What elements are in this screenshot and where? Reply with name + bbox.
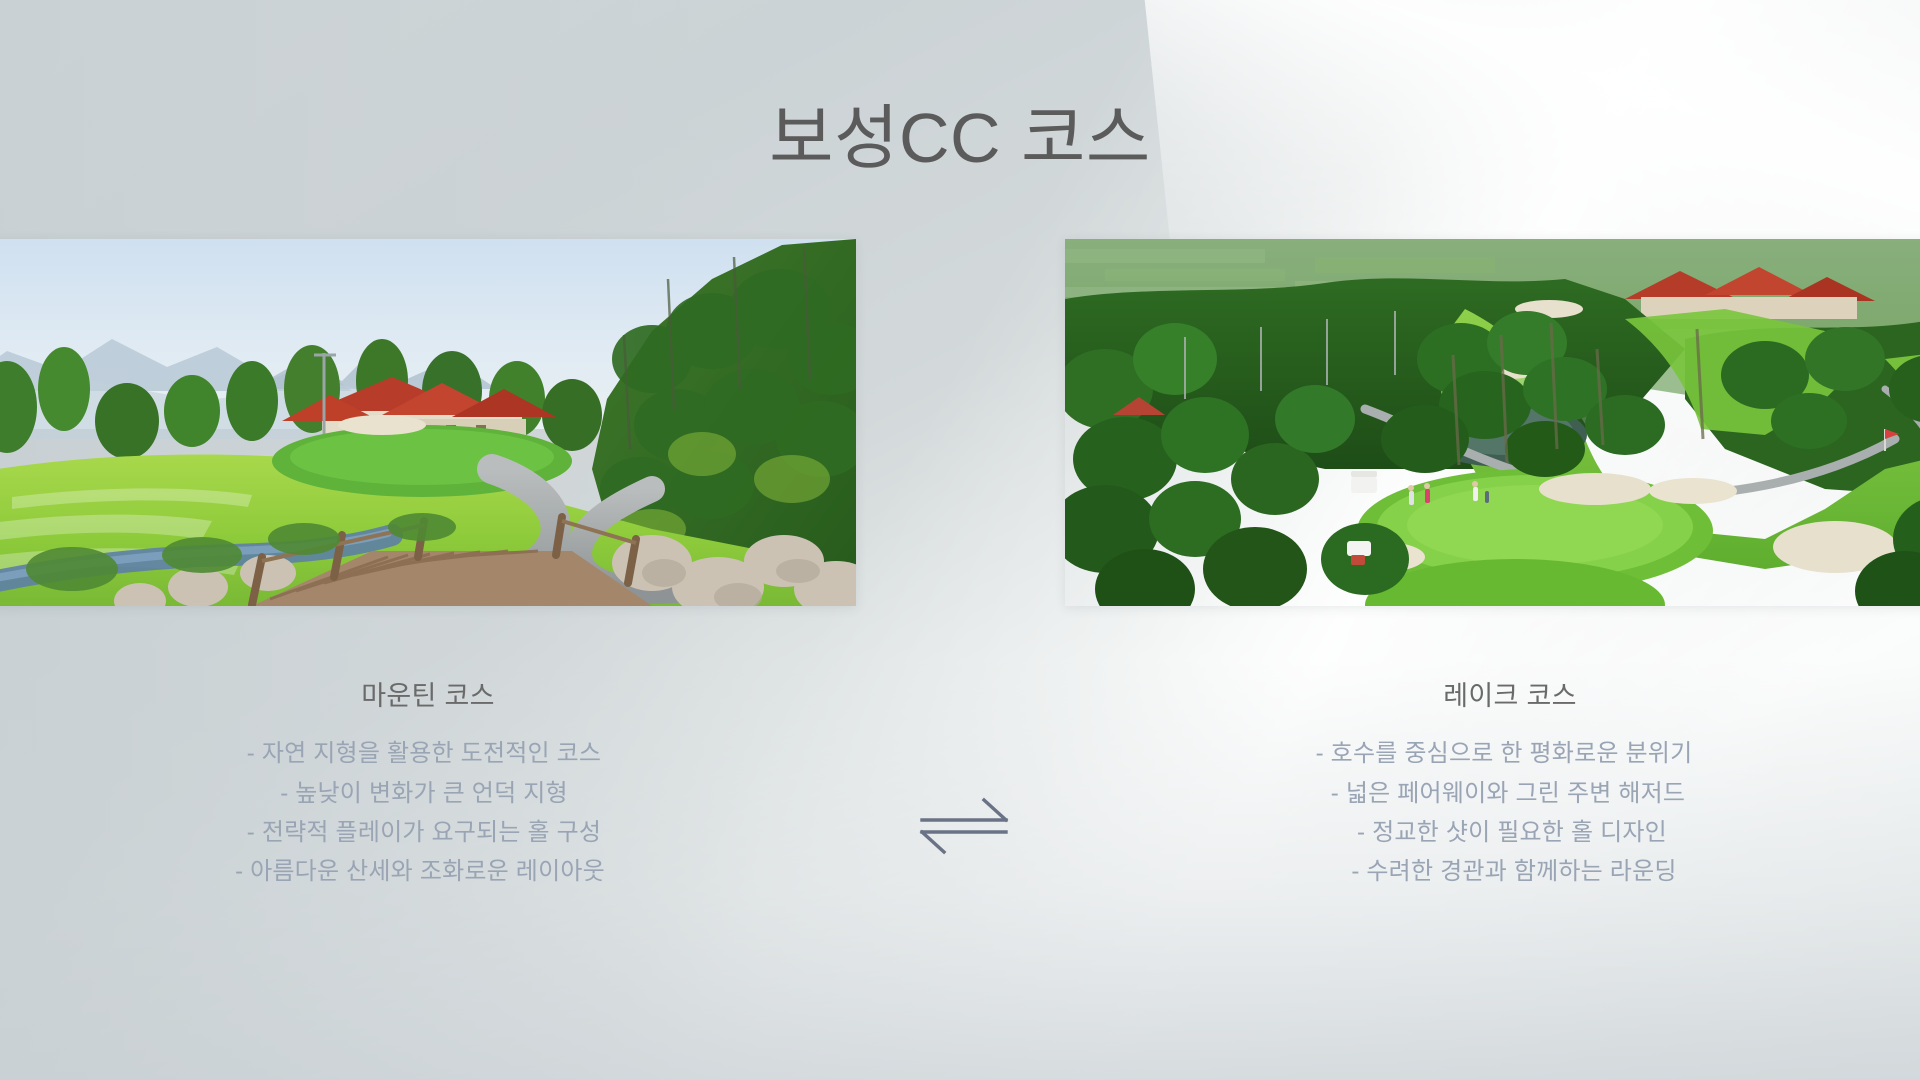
mountain-desc-line-4: - 아름다운 산세와 조화로운 레이아웃 xyxy=(50,852,790,891)
lake-course-title: 레이크 코스 xyxy=(1140,680,1880,712)
mountain-course-description: - 자연 지형을 활용한 도전적인 코스 - 높낮이 변화가 큰 언덕 지형 -… xyxy=(58,734,798,890)
lake-course-description: - 호수를 중심으로 한 평화로운 분위기 - 넓은 페어웨이와 그린 주변 해… xyxy=(1140,734,1880,890)
mountain-desc-line-2: - 높낮이 변화가 큰 언덕 지형 xyxy=(54,774,794,813)
lake-desc-line-1: - 호수를 중심으로 한 평화로운 분위기 xyxy=(1134,734,1874,773)
mountain-desc-line-3: - 전략적 플레이가 요구되는 홀 구성 xyxy=(54,813,794,852)
lake-course-photo xyxy=(1065,239,1920,606)
lake-desc-line-2: - 넓은 페어웨이와 그린 주변 해저드 xyxy=(1138,774,1878,813)
mountain-course-block: 마운틴 코스 - 자연 지형을 활용한 도전적인 코스 - 높낮이 변화가 큰 … xyxy=(58,680,798,891)
page-title: 보성CC 코스 xyxy=(0,97,1920,180)
mountain-desc-line-1: - 자연 지형을 활용한 도전적인 코스 xyxy=(54,734,794,773)
mountain-course-title: 마운틴 코스 xyxy=(58,680,798,712)
lake-course-block: 레이크 코스 - 호수를 중심으로 한 평화로운 분위기 - 넓은 페어웨이와 … xyxy=(1140,680,1880,891)
lake-desc-line-4: - 수려한 경관과 함께하는 라운딩 xyxy=(1144,852,1884,891)
exchange-arrows-icon xyxy=(914,792,1014,864)
lake-desc-line-3: - 정교한 샷이 필요한 홀 디자인 xyxy=(1142,813,1882,852)
mountain-course-photo xyxy=(0,239,856,606)
